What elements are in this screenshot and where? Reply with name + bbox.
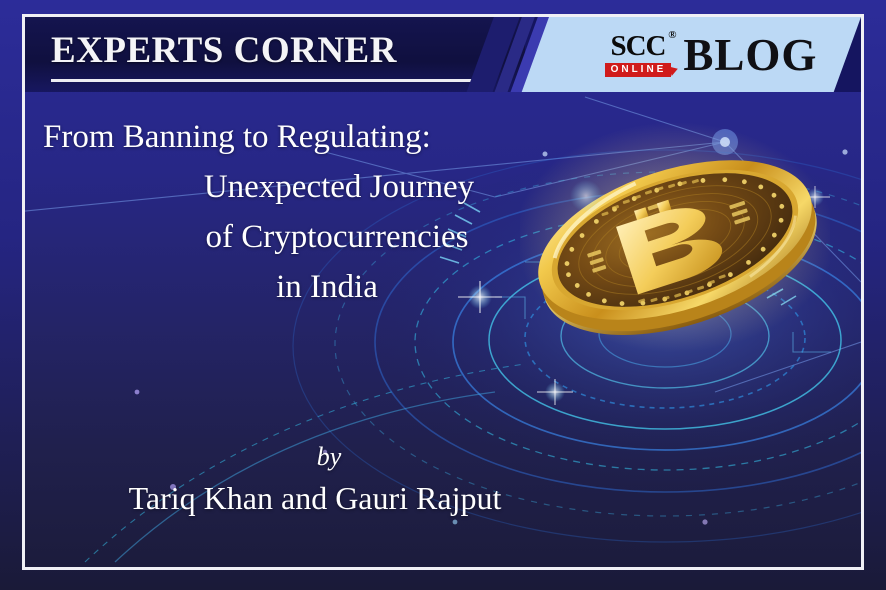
online-text: ONLINE [611, 64, 667, 75]
flag-icon [669, 64, 680, 76]
title-line-4: in India [25, 262, 605, 312]
title-line-2: Unexpected Journey [25, 162, 605, 212]
online-badge: ONLINE [605, 63, 672, 77]
poster-canvas: From Banning to Regulating: Unexpected J… [25, 17, 861, 567]
poster-root: From Banning to Regulating: Unexpected J… [0, 0, 886, 590]
scc-online-logo[interactable]: SCC® ONLINE [605, 32, 672, 77]
brand-logo[interactable]: SCC® ONLINE BLOG [561, 17, 861, 92]
experts-corner-underline [51, 79, 493, 82]
scc-text: SCC [610, 30, 665, 62]
header-bar: EXPERTS CORNER SCC® ONLINE [25, 17, 861, 92]
byline-preposition: by [25, 442, 605, 472]
byline-authors: Tariq Khan and Gauri Rajput [25, 480, 605, 517]
byline-block: by Tariq Khan and Gauri Rajput [25, 442, 605, 517]
experts-corner-label: EXPERTS CORNER [51, 29, 397, 72]
registered-trademark-icon: ® [668, 30, 675, 41]
title-line-1: From Banning to Regulating: [25, 112, 605, 162]
scc-wordmark: SCC® [610, 32, 665, 61]
title-line-3: of Cryptocurrencies [25, 212, 605, 262]
bitcoin-b-symbol [613, 189, 727, 295]
title-block: From Banning to Regulating: Unexpected J… [25, 112, 605, 313]
blog-wordmark: BLOG [683, 29, 817, 81]
